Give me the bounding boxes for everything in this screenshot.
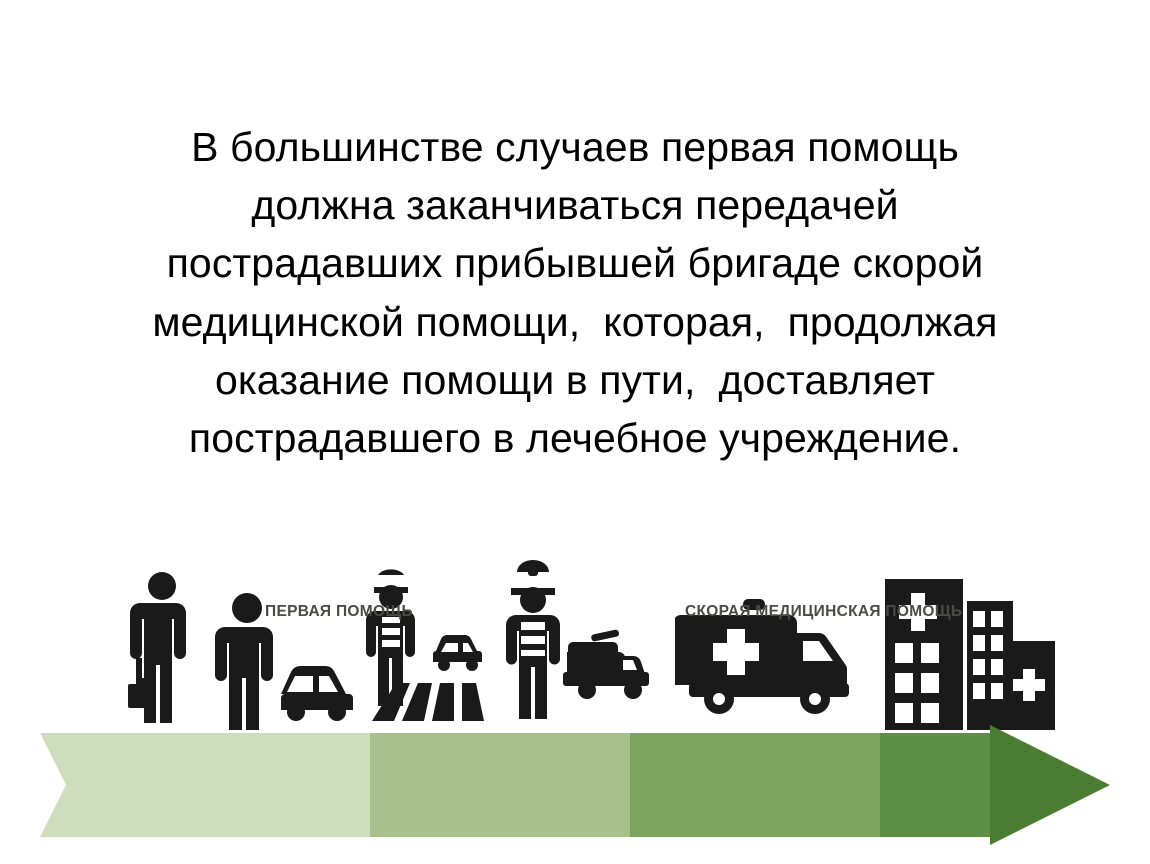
slide-root: В большинстве случаев первая помощь долж… — [0, 0, 1150, 864]
band-label-first-aid: ПЕРВАЯ ПОМОЩЬ — [265, 603, 413, 621]
page-title: В большинстве случаев первая помощь долж… — [60, 118, 1090, 467]
title-line-3: пострадавших прибывшей бригаде скорой — [60, 234, 1090, 292]
process-arrow — [40, 725, 1110, 845]
process-diagram: ПЕРВАЯ ПОМОЩЬ СКОРАЯ МЕДИЦИНСКАЯ ПОМОЩЬ — [40, 545, 1110, 845]
firefighter-truck-icon — [495, 560, 655, 730]
person-with-briefcase-icon — [120, 570, 210, 730]
arrow-segment-2 — [370, 733, 630, 837]
arrow-segment-1 — [40, 733, 370, 837]
title-line-2: должна заканчиваться передачей — [60, 176, 1090, 234]
title-line-4: медицинской помощи, которая, продолжая — [60, 293, 1090, 351]
arrow-segment-4 — [880, 733, 990, 837]
hospital-building-icon — [885, 565, 1055, 730]
traffic-police-icon — [360, 565, 500, 730]
title-line-6: пострадавшего в лечебное учреждение. — [60, 409, 1090, 467]
title-line-5: оказание помощи в пути, доставляет — [60, 351, 1090, 409]
arrow-segment-3 — [630, 733, 880, 837]
arrow-head — [990, 725, 1110, 845]
title-line-1: В большинстве случаев первая помощь — [60, 118, 1090, 176]
icon-row — [40, 545, 1110, 730]
band-label-emergency: СКОРАЯ МЕДИЦИНСКАЯ ПОМОЩЬ — [685, 603, 962, 621]
